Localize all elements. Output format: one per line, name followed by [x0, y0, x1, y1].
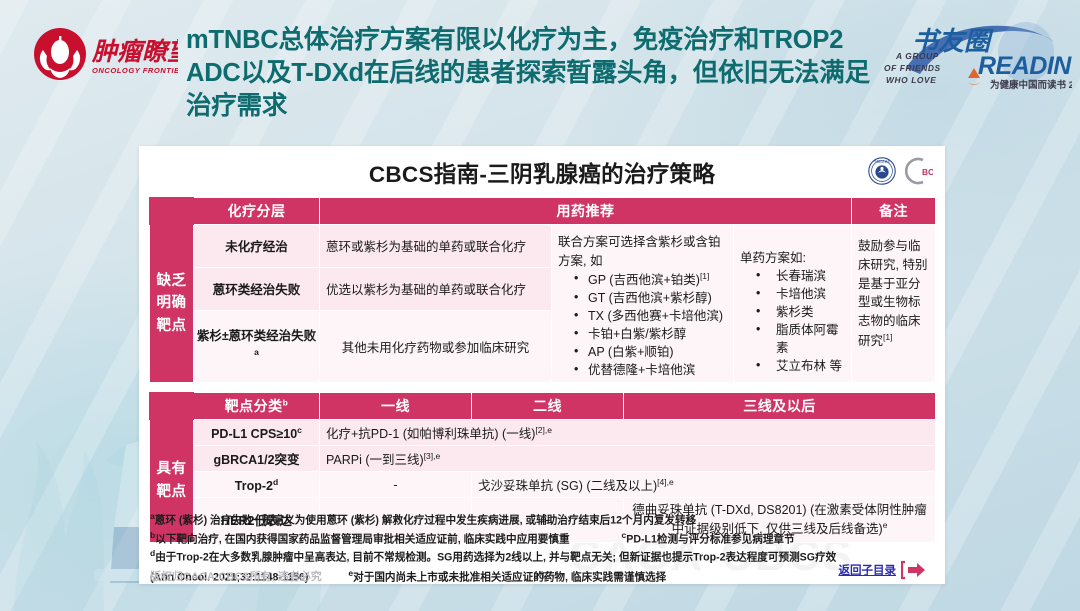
svg-text:BCS: BCS: [922, 167, 933, 177]
svg-text:为健康中国而读书 2030: 为健康中国而读书 2030: [990, 79, 1072, 91]
table-1-wrapper: 化疗分层 用药推荐 备注 缺乏 明确 靶点 未化疗经治 蒽环或紫杉为基础的单药或…: [149, 197, 935, 383]
page-number: -182-: [139, 570, 945, 582]
table1-row2-label: 蒽环类经治失败: [194, 267, 320, 310]
slide-content-card: CBCS指南-三阴乳腺癌的治疗策略 中国抗癌协会 BCS CACA-CBCS C…: [139, 146, 945, 584]
table-row: 缺乏 明确 靶点 未化疗经治 蒽环或紫杉为基础的单药或联合化疗 联合方案可选择含…: [150, 225, 936, 268]
ref-sup: a: [254, 347, 259, 357]
table1-header-remarks: 备注: [852, 198, 936, 225]
mono-list: 长春瑞滨 卡培他滨 紫杉类 脂质体阿霉素 艾立布林 等: [754, 267, 845, 375]
list-item: GT (吉西他滨+紫杉醇): [572, 289, 727, 307]
table2-row2-label: gBRCA1/2突变: [194, 446, 320, 472]
table-row: Trop-2d - 戈沙妥珠单抗 (SG) (二线及以上)[4],e: [150, 472, 936, 498]
card-title: CBCS指南-三阴乳腺癌的治疗策略: [139, 146, 945, 189]
table2-row3-label: Trop-2d: [194, 472, 320, 498]
svg-text:WHO LOVE: WHO LOVE: [886, 75, 936, 85]
list-item: GP (吉西他滨+铂类)[1]: [572, 270, 727, 289]
table-row: 具有 靶点 PD-L1 CPS≥10c 化疗+抗PD-1 (如帕博利珠单抗) (…: [150, 420, 936, 446]
ref-sup: c: [297, 425, 302, 435]
remarks-text: 鼓励参与临床研究, 特别是基于亚分型或生物标志物的临床研究: [858, 239, 927, 348]
society-logos: 中国抗癌协会 BCS: [867, 156, 933, 186]
table2-header-second-line: 二线: [472, 393, 624, 420]
table1-row3-label: 紫杉±蒽环类经治失败a: [194, 310, 320, 382]
list-item: 艾立布林 等: [754, 357, 845, 375]
list-item: 脂质体阿霉素: [754, 321, 845, 357]
mono-title: 单药方案如:: [740, 247, 845, 266]
slide-header: 肿瘤瞭望 ONCOLOGY FRONTIER mTNBC总体治疗方案有限以化疗为…: [0, 0, 1080, 140]
list-item: 卡铂+白紫/紫杉醇: [572, 325, 727, 343]
table1-side-label: 缺乏 明确 靶点: [150, 225, 194, 383]
table1-remarks: 鼓励参与临床研究, 特别是基于亚分型或生物标志物的临床研究[1]: [852, 225, 936, 383]
table1-header-chemo-stratification: 化疗分层: [194, 198, 320, 225]
svg-text:中国抗癌协会: 中国抗癌协会: [874, 160, 890, 164]
side-label-line: 缺乏: [150, 270, 193, 292]
list-item: TX (多西他赛+卡培他滨): [572, 307, 727, 325]
ref-sup: [1]: [883, 332, 892, 342]
list-item: 优替德隆+卡培他滨: [572, 361, 727, 379]
ref-sup: b: [283, 398, 289, 408]
list-item: 长春瑞滨: [754, 267, 845, 285]
table2-row1-value: 化疗+抗PD-1 (如帕博利珠单抗) (一线)[2],e: [320, 420, 936, 446]
table1-row1-recommendation: 蒽环或紫杉为基础的单药或联合化疗: [320, 225, 552, 268]
reading-club-logo: 书友圈 READING A GROUP OF FRIENDS WHO LOVE …: [876, 16, 1072, 100]
table1-combination-regimens: 联合方案可选择含紫杉或含铂方案, 如 GP (吉西他滨+铂类)[1] GT (吉…: [552, 225, 734, 383]
back-link-text[interactable]: 返回子目录: [839, 562, 897, 578]
table2-row3-first-line: -: [320, 472, 472, 498]
svg-text:肿瘤瞭望: 肿瘤瞭望: [91, 38, 178, 66]
combo-list: GP (吉西他滨+铂类)[1] GT (吉西他滨+紫杉醇) TX (多西他赛+卡…: [572, 270, 727, 379]
svg-text:ONCOLOGY FRONTIER: ONCOLOGY FRONTIER: [92, 66, 178, 75]
slide-title: mTNBC总体治疗方案有限以化疗为主，免疫治疗和TROP2 ADC以及T-DXd…: [186, 24, 886, 123]
svg-text:OF FRIENDS: OF FRIENDS: [884, 63, 941, 73]
table2-header-target-class: 靶点分类b: [194, 393, 320, 420]
table1-row2-recommendation: 优选以紫杉为基础的单药或联合化疗: [320, 267, 552, 310]
cbcs-society-seal-icon: 中国抗癌协会: [867, 156, 897, 186]
table1-corner-cell: [150, 198, 194, 225]
ref-sup: [3],e: [424, 451, 441, 461]
list-item: 卡培他滨: [754, 285, 845, 303]
combo-title: 联合方案可选择含紫杉或含铂方案, 如: [558, 231, 727, 269]
ref-sup: [2],e: [535, 425, 552, 435]
side-label-line: 具有: [150, 458, 193, 480]
table-row-header: 化疗分层 用药推荐 备注: [150, 198, 936, 225]
ref-sup: [4],e: [657, 477, 674, 487]
bcs-logo-icon: BCS: [903, 156, 933, 186]
ref-sup: [1]: [700, 271, 709, 281]
list-item: 紫杉类: [754, 303, 845, 321]
table2-header-first-line: 一线: [320, 393, 472, 420]
footnote-d: d由于Trop-2在大多数乳腺肿瘤中呈高表达, 目前不常规检测。SG用药选择为2…: [150, 547, 936, 566]
table1-mono-regimens: 单药方案如: 长春瑞滨 卡培他滨 紫杉类 脂质体阿霉素 艾立布林 等: [734, 225, 852, 383]
table2-row3-value: 戈沙妥珠单抗 (SG) (二线及以上)[4],e: [472, 472, 936, 498]
side-label-line: 靶点: [150, 315, 193, 337]
svg-text:READING: READING: [978, 52, 1072, 80]
table2-corner-cell: [150, 393, 194, 420]
table2-row1-label: PD-L1 CPS≥10c: [194, 420, 320, 446]
side-label-line: 靶点: [150, 481, 193, 503]
footnote-a: a蒽环 (紫杉) 治疗失败一般定义为使用蒽环 (紫杉) 解救化疗过程中发生疾病进…: [150, 510, 936, 529]
table1-row3-recommendation: 其他未用化疗药物或参加临床研究: [320, 310, 552, 382]
table2-row2-value: PARPi (一到三线)[3],e: [320, 446, 936, 472]
side-label-line: 明确: [150, 292, 193, 314]
arrow-right-icon[interactable]: [901, 560, 927, 580]
list-item: AP (白紫+顺铂): [572, 343, 727, 361]
back-to-contents[interactable]: 返回子目录: [839, 560, 928, 580]
table-row: gBRCA1/2突变 PARPi (一到三线)[3],e: [150, 446, 936, 472]
table2-header-third-line: 三线及以后: [624, 393, 936, 420]
table1-row1-label: 未化疗经治: [194, 225, 320, 268]
table1-header-drug-recommendation: 用药推荐: [320, 198, 852, 225]
table-chemo-strategy: 化疗分层 用药推荐 备注 缺乏 明确 靶点 未化疗经治 蒽环或紫杉为基础的单药或…: [149, 197, 936, 383]
oncology-frontier-logo: 肿瘤瞭望 ONCOLOGY FRONTIER: [30, 26, 178, 86]
svg-text:A GROUP: A GROUP: [895, 51, 939, 61]
table-row-header: 靶点分类b 一线 二线 三线及以后: [150, 393, 936, 420]
footnote-b: b以下靶向治疗, 在国内获得国家药品监督管理局审批相关适应证前, 临床实践中应用…: [150, 529, 936, 548]
ref-sup: d: [273, 477, 278, 487]
